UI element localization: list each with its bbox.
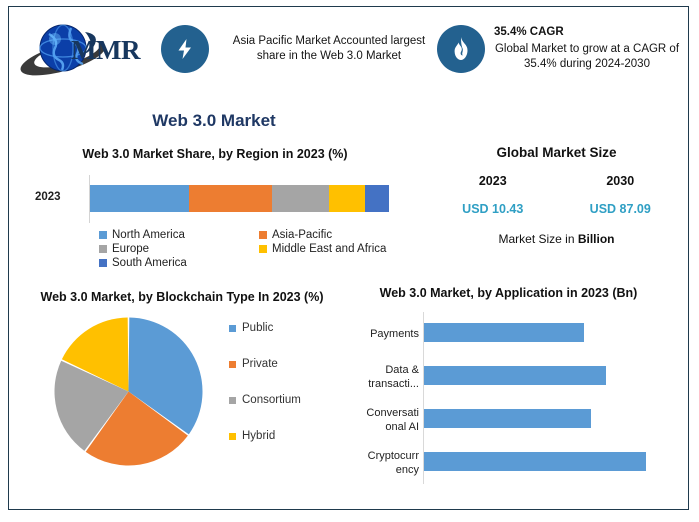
- region-segment-asia-pacific: [189, 185, 273, 212]
- application-bar-track: [423, 355, 686, 398]
- badge-cagr-block: 35.4% CAGR Global Market to grow at a CA…: [494, 25, 680, 73]
- pie-swatch-private: [229, 361, 236, 368]
- region-stacked-bar: [90, 185, 389, 212]
- market-size-year-2030: 2030: [565, 174, 675, 188]
- region-category-label: 2023: [35, 191, 61, 203]
- legend-label-middle-east-africa: Middle East and Africa: [272, 243, 386, 255]
- market-size-value-2030: USD 87.09: [565, 202, 675, 216]
- legend-item-north-america: North America: [99, 229, 259, 241]
- legend-swatch-middle-east-africa: [259, 245, 267, 253]
- region-chart-title: Web 3.0 Market Share, by Region in 2023 …: [19, 147, 411, 161]
- application-bar-track: [423, 312, 686, 355]
- region-segment-south-america: [365, 185, 389, 212]
- legend-item-south-america: South America: [99, 257, 259, 269]
- page-title: Web 3.0 Market: [9, 111, 419, 131]
- legend-swatch-asia-pacific: [259, 231, 267, 239]
- legend-label-asia-pacific: Asia-Pacific: [272, 229, 332, 241]
- application-bar: [424, 452, 646, 471]
- pie-label-private: Private: [242, 358, 278, 370]
- region-segment-europe: [272, 185, 329, 212]
- legend-label-europe: Europe: [112, 243, 149, 255]
- application-category-label: Data &transacti...: [341, 363, 423, 391]
- application-category-label: Conversational AI: [341, 406, 423, 434]
- market-size-year-2023: 2023: [438, 174, 548, 188]
- flame-icon: [437, 25, 485, 73]
- header: MMR Asia Pacific Market Accounted larges…: [9, 7, 688, 91]
- market-size-value-2023: USD 10.43: [438, 202, 548, 216]
- pie-swatch-hybrid: [229, 433, 236, 440]
- header-badge-asia-pacific: Asia Pacific Market Accounted largest sh…: [161, 7, 451, 91]
- pie-legend: Public Private Consortium Hybrid: [229, 322, 301, 466]
- region-plot-area: 2023: [19, 175, 419, 223]
- pie-swatch-public: [229, 325, 236, 332]
- application-category-label: Cryptocurrency: [341, 449, 423, 477]
- pie-legend-item-consortium: Consortium: [229, 394, 301, 406]
- legend-item-asia-pacific: Asia-Pacific: [259, 229, 409, 241]
- market-size-unit-value: Billion: [578, 232, 615, 246]
- pie-plot-area: Public Private Consortium Hybrid: [17, 314, 347, 474]
- badge-cagr-title: 35.4% CAGR: [494, 25, 680, 41]
- pie-label-hybrid: Hybrid: [242, 430, 275, 442]
- global-market-size-years: 2023 2030: [429, 174, 684, 188]
- legend-item-middle-east-africa: Middle East and Africa: [259, 243, 409, 255]
- application-chart-title: Web 3.0 Market, by Application in 2023 (…: [341, 285, 676, 302]
- global-market-size-title: Global Market Size: [429, 145, 684, 160]
- pie-chart-title: Web 3.0 Market, by Blockchain Type In 20…: [23, 289, 341, 306]
- region-segment-north-america: [90, 185, 189, 212]
- pie-legend-item-private: Private: [229, 358, 301, 370]
- global-market-size-values: USD 10.43 USD 87.09: [429, 202, 684, 216]
- application-chart: Web 3.0 Market, by Application in 2023 (…: [341, 285, 686, 484]
- pie-swatch-consortium: [229, 397, 236, 404]
- application-category-label: Payments: [341, 327, 423, 341]
- legend-swatch-europe: [99, 245, 107, 253]
- legend-label-north-america: North America: [112, 229, 185, 241]
- application-plot-area: PaymentsData &transacti...Conversational…: [341, 312, 686, 484]
- application-row: Conversational AI: [341, 398, 686, 441]
- application-bar-track: [423, 398, 686, 441]
- brand-name: MMR: [71, 35, 140, 66]
- pie-chart-graphic: [51, 314, 206, 469]
- lightning-bolt-icon: [161, 25, 209, 73]
- application-bar-track: [423, 441, 686, 484]
- application-row: Payments: [341, 312, 686, 355]
- pie-legend-item-public: Public: [229, 322, 301, 334]
- application-bar: [424, 366, 606, 385]
- application-bar: [424, 323, 584, 342]
- infographic-card: MMR Asia Pacific Market Accounted larges…: [8, 6, 689, 510]
- application-bar: [424, 409, 591, 428]
- application-row: Cryptocurrency: [341, 441, 686, 484]
- region-legend: North America Asia-Pacific Europe Middle…: [99, 229, 409, 269]
- region-share-chart: Web 3.0 Market Share, by Region in 2023 …: [19, 147, 419, 269]
- legend-label-south-america: South America: [112, 257, 187, 269]
- application-row: Data &transacti...: [341, 355, 686, 398]
- header-badge-cagr: 35.4% CAGR Global Market to grow at a CA…: [437, 7, 687, 91]
- market-size-unit-prefix: Market Size in: [498, 232, 577, 246]
- badge-asia-pacific-text: Asia Pacific Market Accounted largest sh…: [218, 34, 440, 65]
- legend-swatch-south-america: [99, 259, 107, 267]
- badge-cagr-text: Global Market to grow at a CAGR of 35.4%…: [495, 43, 679, 71]
- legend-item-europe: Europe: [99, 243, 259, 255]
- pie-label-public: Public: [242, 322, 273, 334]
- brand-logo: MMR: [19, 7, 159, 91]
- global-market-size-panel: Global Market Size 2023 2030 USD 10.43 U…: [429, 145, 684, 246]
- blockchain-type-chart: Web 3.0 Market, by Blockchain Type In 20…: [17, 289, 347, 474]
- market-size-unit-note: Market Size in Billion: [429, 232, 684, 246]
- pie-legend-item-hybrid: Hybrid: [229, 430, 301, 442]
- legend-swatch-north-america: [99, 231, 107, 239]
- region-segment-middle-east-africa: [329, 185, 365, 212]
- pie-label-consortium: Consortium: [242, 394, 301, 406]
